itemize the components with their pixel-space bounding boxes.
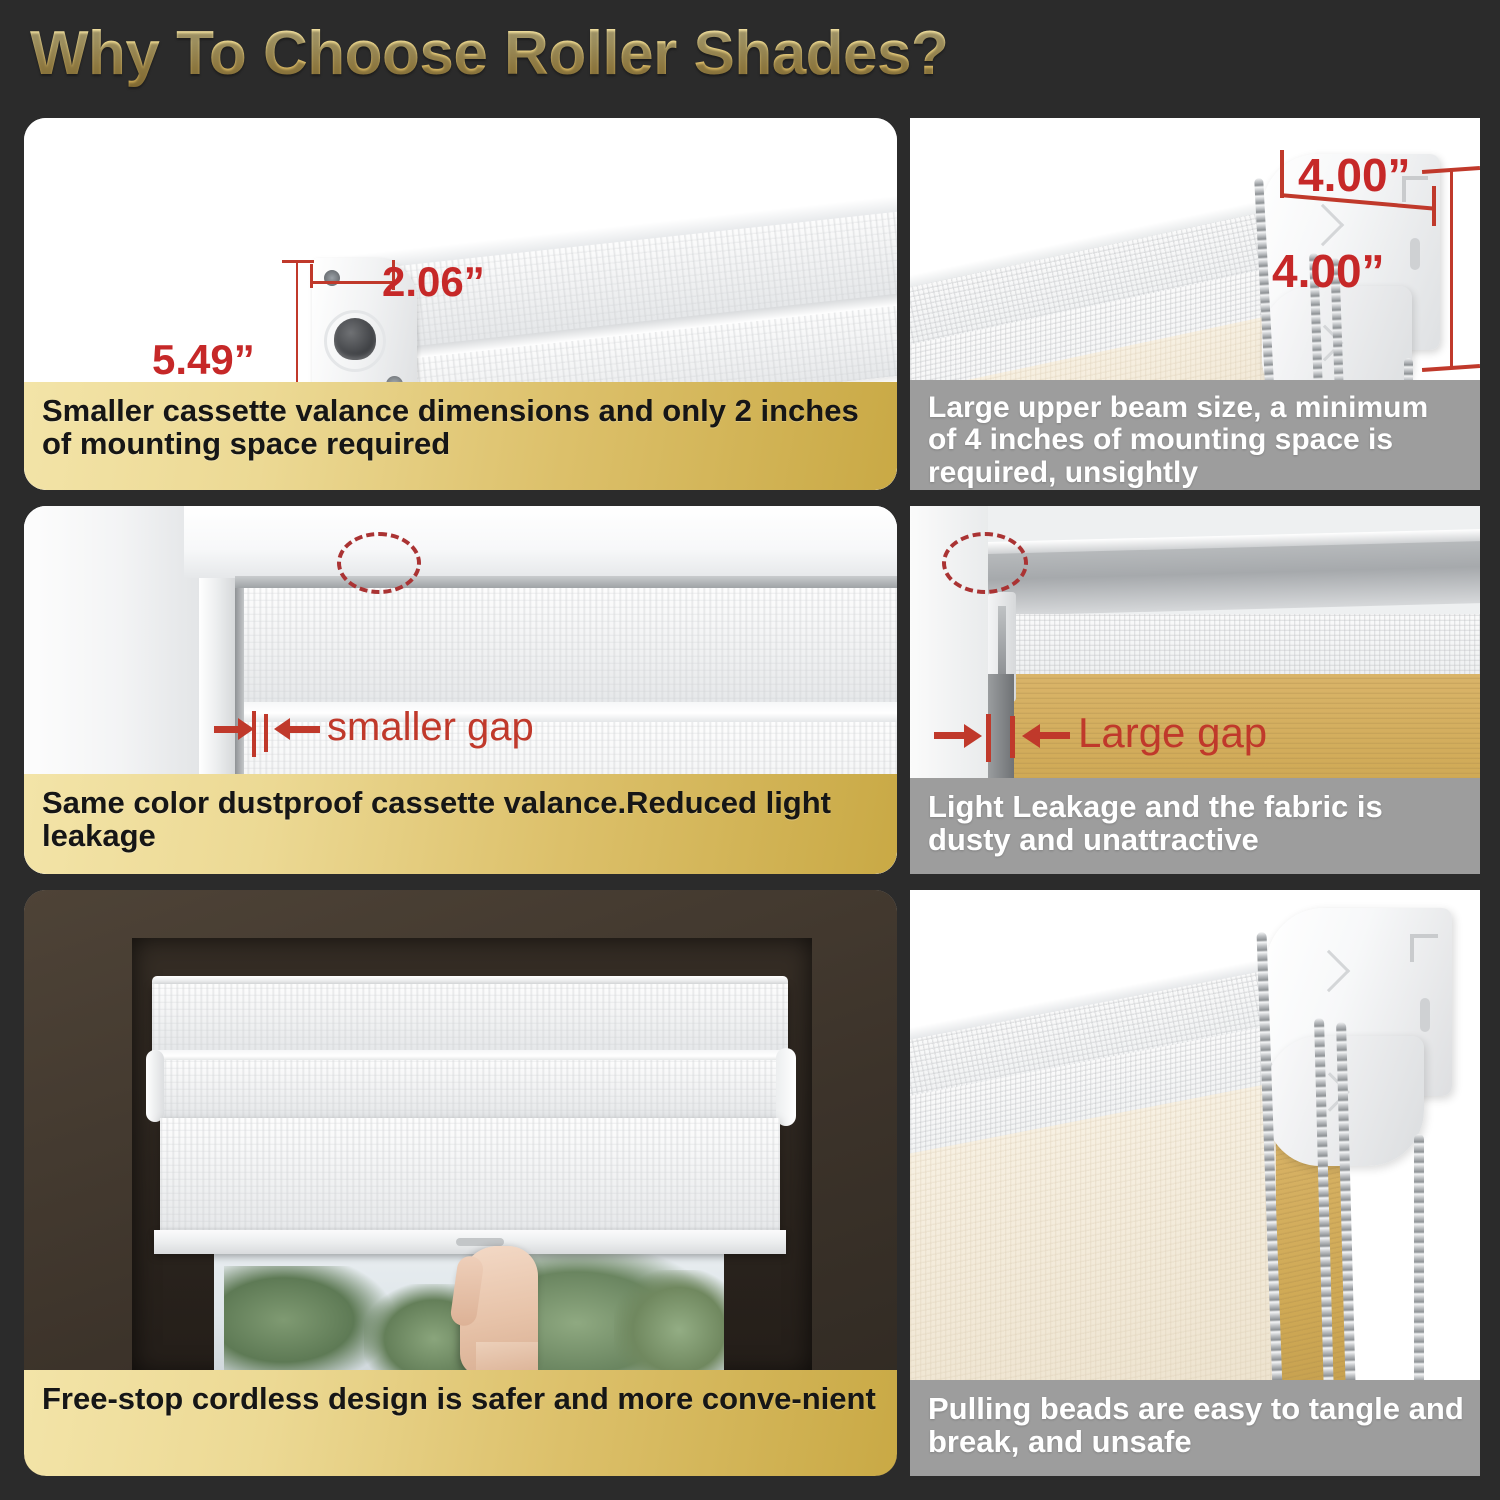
highlight-ellipse: [942, 532, 1028, 594]
gap-arrow-left-head-icon: [238, 718, 254, 740]
bracket-slot-icon: [1410, 934, 1438, 962]
caption-good-dustproof-valance: Same color dustproof cassette valance.Re…: [24, 774, 897, 874]
bracket-hole-icon: [1410, 238, 1420, 270]
beam-height-dim-line: [1450, 168, 1453, 368]
panel-bad-light-leakage: Large gap Light Leakage and the fabric i…: [910, 506, 1480, 874]
gap-arrow-right-icon: [286, 726, 320, 733]
large-gap-label: Large gap: [1078, 709, 1267, 757]
cassette-valance-head: [152, 984, 788, 1052]
tree-foliage-far-right: [614, 1270, 724, 1376]
cassette-valance-skirt: [152, 1060, 788, 1118]
bracket-hole-icon: [1420, 998, 1430, 1032]
panel-good-cassette-dimensions: 2.06” 5.49” Smaller cassette valance dim…: [24, 118, 897, 490]
gap-arrow-left-head-icon: [964, 724, 982, 748]
width-dimension-label: 2.06”: [382, 258, 485, 306]
gap-arrow-right-head-icon: [1022, 724, 1040, 748]
panel-good-dustproof-valance: smaller gap Same color dustproof cassett…: [24, 506, 897, 874]
gap-bar-left: [986, 714, 991, 762]
page-title: Why To Choose Roller Shades?: [30, 18, 948, 89]
valance-end-cap-left: [146, 1050, 164, 1122]
panel-bad-upper-beam-size: 4.00” 4.00” Large upper beam size, a min…: [910, 118, 1480, 490]
panel-bad-pulling-beads: Pulling beads are easy to tangle and bre…: [910, 890, 1480, 1476]
beam-height-dimension-label: 4.00”: [1272, 244, 1385, 298]
beam-height-tick-bottom: [1422, 364, 1480, 372]
caption-good-cordless-design: Free-stop cordless design is safer and m…: [24, 1370, 897, 1476]
smaller-gap-label: smaller gap: [327, 705, 534, 750]
cassette-valance-top: [235, 576, 897, 588]
gap-bar-right: [1010, 716, 1015, 758]
roller-shade-fabric: [160, 1118, 780, 1236]
shade-fabric-white-band: [1014, 614, 1480, 676]
gap-bar-right: [264, 714, 268, 752]
valance-fabric-upper: [235, 588, 897, 706]
width-dim-tick-left: [310, 264, 313, 288]
highlight-ellipse: [337, 532, 421, 594]
height-dim-tick-top: [282, 260, 314, 263]
valance-end-cap-right: [776, 1048, 796, 1126]
height-dimension-label: 5.49”: [152, 336, 255, 384]
window-frame-top: [184, 506, 897, 578]
gap-arrow-right-head-icon: [274, 718, 290, 740]
caption-good-cassette-dimensions: Smaller cassette valance dimensions and …: [24, 382, 897, 490]
roller-slot-ring: [324, 310, 386, 372]
caption-bad-light-leakage: Light Leakage and the fabric is dusty an…: [910, 778, 1480, 874]
beam-width-tick-left: [1280, 150, 1284, 198]
shade-bottom-rail-grip-icon: [456, 1238, 504, 1246]
bracket-pin-icon: [998, 606, 1006, 676]
infographic-page: Why To Choose Roller Shades? Why To Choo…: [0, 0, 1500, 1500]
caption-bad-pulling-beads: Pulling beads are easy to tangle and bre…: [910, 1380, 1480, 1476]
panel-good-cordless-design: Free-stop cordless design is safer and m…: [24, 890, 897, 1476]
caption-bad-upper-beam-size: Large upper beam size, a minimum of 4 in…: [910, 380, 1480, 490]
beam-width-tick-right: [1432, 186, 1436, 226]
beam-width-dimension-label: 4.00”: [1298, 148, 1411, 202]
